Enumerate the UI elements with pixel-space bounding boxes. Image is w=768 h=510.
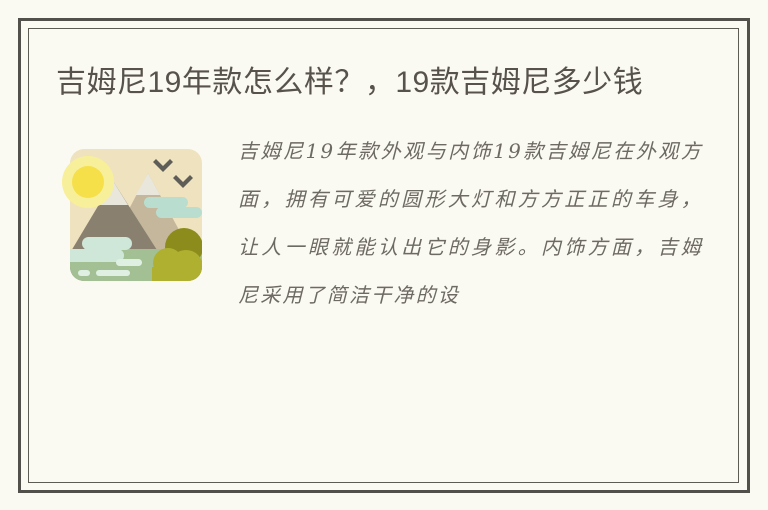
article-page: 吉姆尼19年款怎么样？，19款吉姆尼多少钱: [0, 0, 768, 510]
page-title: 吉姆尼19年款怎么样？，19款吉姆尼多少钱: [56, 60, 656, 105]
landscape-illustration-icon: [56, 137, 216, 289]
article-body: 吉姆尼19年款外观与内饰19款吉姆尼在外观方面，拥有可爱的圆形大灯和方方正正的车…: [56, 133, 709, 339]
article-content: 吉姆尼19年款怎么样？，19款吉姆尼多少钱: [28, 28, 739, 483]
article-excerpt: 吉姆尼19年款外观与内饰19款吉姆尼在外观方面，拥有可爱的圆形大灯和方方正正的车…: [238, 127, 709, 319]
article-thumbnail: [56, 137, 216, 289]
